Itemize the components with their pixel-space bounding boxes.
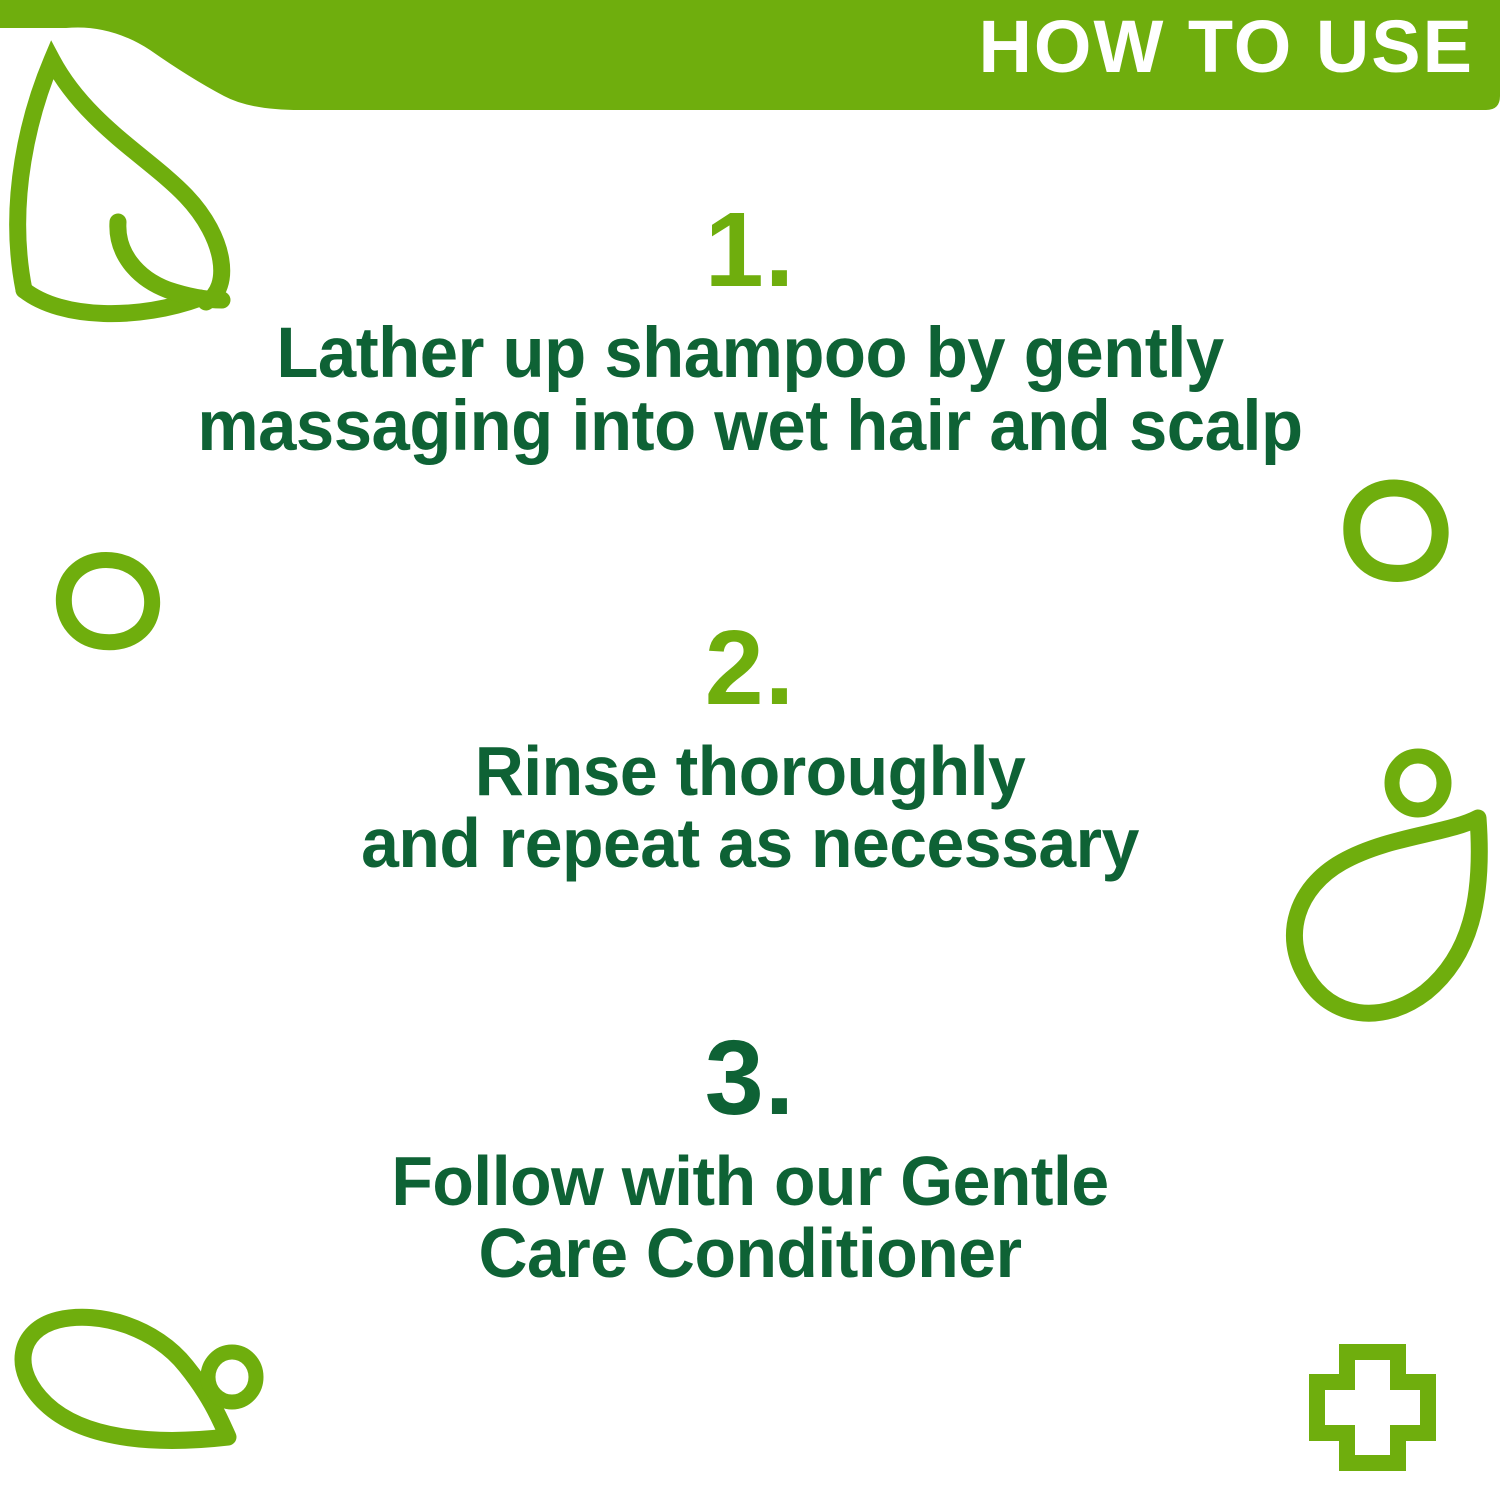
- step-item-3: 3. Follow with our Gentle Care Condition…: [0, 1024, 1500, 1289]
- step-2-line-1: Rinse thoroughly: [23, 736, 1478, 807]
- step-1-line-1: Lather up shampoo by gently: [23, 318, 1478, 390]
- step-2-text: Rinse thoroughly and repeat as necessary: [23, 722, 1478, 879]
- step-1-line-2: massaging into wet hair and scalp: [23, 391, 1478, 463]
- step-3-line-2: Care Conditioner: [23, 1218, 1478, 1289]
- how-to-use-poster: HOW TO USE: [0, 0, 1500, 1500]
- step-1-text: Lather up shampoo by gently massaging in…: [23, 304, 1478, 463]
- step-2-line-2: and repeat as necessary: [23, 808, 1478, 879]
- step-3-text: Follow with our Gentle Care Conditioner: [23, 1132, 1478, 1289]
- steps-list: 1. Lather up shampoo by gently massaging…: [0, 0, 1500, 1500]
- step-item-2: 2. Rinse thoroughly and repeat as necess…: [0, 614, 1500, 879]
- step-2-number: 2.: [0, 614, 1500, 722]
- step-item-1: 1. Lather up shampoo by gently massaging…: [0, 196, 1500, 463]
- step-3-line-1: Follow with our Gentle: [23, 1146, 1478, 1217]
- step-1-number: 1.: [0, 196, 1500, 304]
- step-3-number: 3.: [0, 1024, 1500, 1132]
